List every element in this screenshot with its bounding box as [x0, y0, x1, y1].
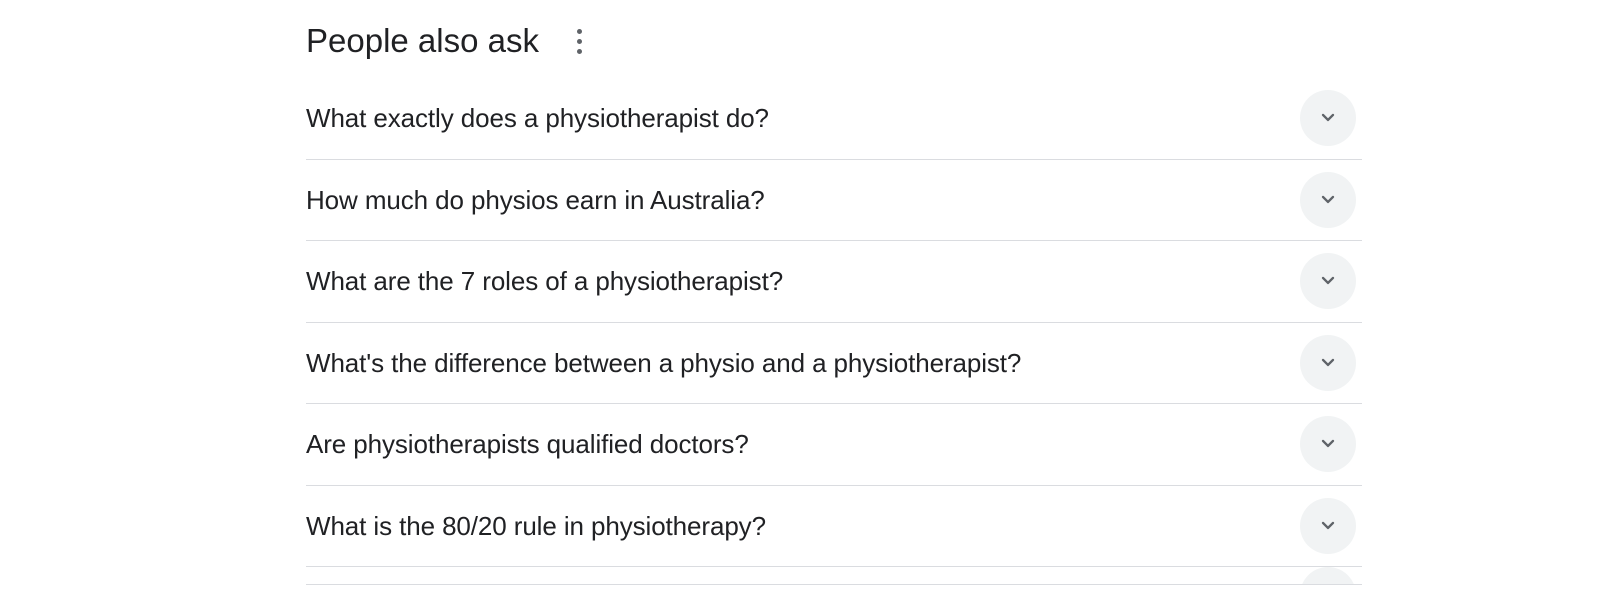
expand-question-button[interactable]	[1300, 498, 1356, 554]
expand-question-button[interactable]	[1300, 172, 1356, 228]
chevron-down-icon	[1315, 187, 1341, 213]
expand-question-button[interactable]	[1300, 335, 1356, 391]
overflow-menu-icon[interactable]	[567, 23, 593, 59]
chevron-down-icon	[1315, 268, 1341, 294]
chevron-down-icon	[1315, 582, 1341, 585]
question-row[interactable]: Are physiotherapists qualified doctors?	[306, 404, 1362, 486]
question-text: What exactly does a physiotherapist do?	[306, 101, 793, 135]
chevron-down-icon	[1315, 350, 1341, 376]
question-text: Are physiotherapists qualified doctors?	[306, 427, 773, 461]
chevron-down-icon	[1315, 105, 1341, 131]
question-row[interactable]: What's the difference between a physio a…	[306, 323, 1362, 405]
expand-question-button[interactable]	[1300, 90, 1356, 146]
question-text: What's the difference between a physio a…	[306, 346, 1045, 380]
question-row-partial[interactable]	[306, 567, 1362, 585]
question-row[interactable]: What are the 7 roles of a physiotherapis…	[306, 241, 1362, 323]
people-also-ask-header: People also ask	[306, 0, 1362, 78]
overflow-menu-dot	[577, 29, 582, 34]
overflow-menu-dot	[577, 49, 582, 54]
expand-question-button[interactable]	[1300, 416, 1356, 472]
question-text: What are the 7 roles of a physiotherapis…	[306, 264, 807, 298]
expand-question-button[interactable]	[1300, 567, 1356, 585]
people-also-ask-panel: People also ask What exactly does a phys…	[306, 0, 1362, 585]
question-row[interactable]: What exactly does a physiotherapist do?	[306, 78, 1362, 160]
question-text: How much do physios earn in Australia?	[306, 183, 789, 217]
chevron-down-icon	[1315, 513, 1341, 539]
question-row[interactable]: How much do physios earn in Australia?	[306, 160, 1362, 242]
chevron-down-icon	[1315, 431, 1341, 457]
overflow-menu-dot	[577, 39, 582, 44]
expand-question-button[interactable]	[1300, 253, 1356, 309]
question-row[interactable]: What is the 80/20 rule in physiotherapy?	[306, 486, 1362, 568]
question-list: What exactly does a physiotherapist do? …	[306, 78, 1362, 585]
question-text: What is the 80/20 rule in physiotherapy?	[306, 509, 790, 543]
page-title: People also ask	[306, 21, 539, 61]
